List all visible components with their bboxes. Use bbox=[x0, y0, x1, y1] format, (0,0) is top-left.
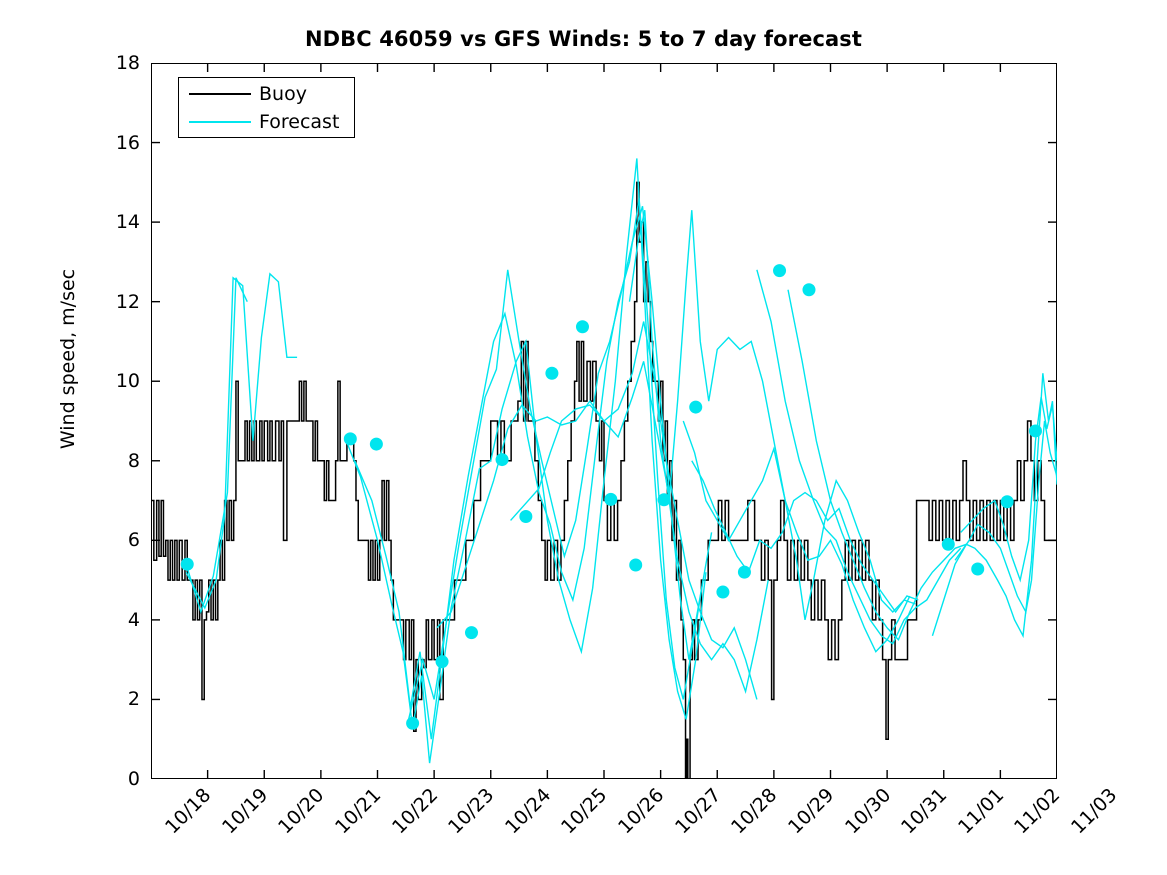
x-tick-label-8: 10/26 bbox=[614, 784, 668, 838]
legend-label-forecast: Forecast bbox=[259, 108, 339, 136]
y-axis-tick-labels: 024681012141618 bbox=[78, 63, 140, 779]
x-tick-label-4: 10/22 bbox=[388, 784, 442, 838]
y-tick-label-9: 18 bbox=[116, 52, 140, 74]
legend-entry-buoy: Buoy bbox=[179, 80, 356, 108]
y-tick-label-6: 12 bbox=[116, 291, 140, 313]
x-tick-label-7: 10/25 bbox=[557, 784, 611, 838]
x-tick-label-14: 11/01 bbox=[954, 784, 1008, 838]
legend-swatch-forecast bbox=[189, 121, 251, 123]
x-tick-label-13: 10/31 bbox=[897, 784, 951, 838]
x-tick-label-16: 11/03 bbox=[1067, 784, 1121, 838]
y-tick-label-5: 10 bbox=[116, 370, 140, 392]
plot-area bbox=[151, 63, 1057, 779]
x-tick-label-3: 10/21 bbox=[331, 784, 385, 838]
legend-label-buoy: Buoy bbox=[259, 80, 307, 108]
y-tick-label-1: 2 bbox=[128, 688, 140, 710]
x-tick-label-2: 10/20 bbox=[274, 784, 328, 838]
chart-legend: Buoy Forecast bbox=[178, 77, 355, 138]
x-tick-label-9: 10/27 bbox=[671, 784, 725, 838]
x-tick-label-5: 10/23 bbox=[444, 784, 498, 838]
x-tick-label-10: 10/28 bbox=[727, 784, 781, 838]
y-tick-label-7: 14 bbox=[116, 211, 140, 233]
y-axis-title: Wind speed, m/sec bbox=[57, 229, 79, 489]
chart-figure: NDBC 46059 vs GFS Winds: 5 to 7 day fore… bbox=[0, 0, 1167, 875]
y-tick-label-3: 6 bbox=[128, 529, 140, 551]
y-tick-label-0: 0 bbox=[128, 768, 140, 790]
x-tick-label-1: 10/19 bbox=[218, 784, 272, 838]
legend-entry-forecast: Forecast bbox=[179, 108, 356, 136]
x-axis-tick-labels: 10/1810/1910/2010/2110/2210/2310/2410/25… bbox=[151, 784, 1057, 874]
y-tick-label-8: 16 bbox=[116, 132, 140, 154]
x-tick-label-6: 10/24 bbox=[501, 784, 555, 838]
legend-swatch-buoy bbox=[189, 93, 251, 95]
x-tick-label-11: 10/29 bbox=[784, 784, 838, 838]
y-tick-label-4: 8 bbox=[128, 450, 140, 472]
y-tick-label-2: 4 bbox=[128, 609, 140, 631]
x-tick-label-12: 10/30 bbox=[841, 784, 895, 838]
x-tick-label-15: 11/02 bbox=[1010, 784, 1064, 838]
chart-title: NDBC 46059 vs GFS Winds: 5 to 7 day fore… bbox=[0, 27, 1167, 51]
x-tick-label-0: 10/18 bbox=[161, 784, 215, 838]
